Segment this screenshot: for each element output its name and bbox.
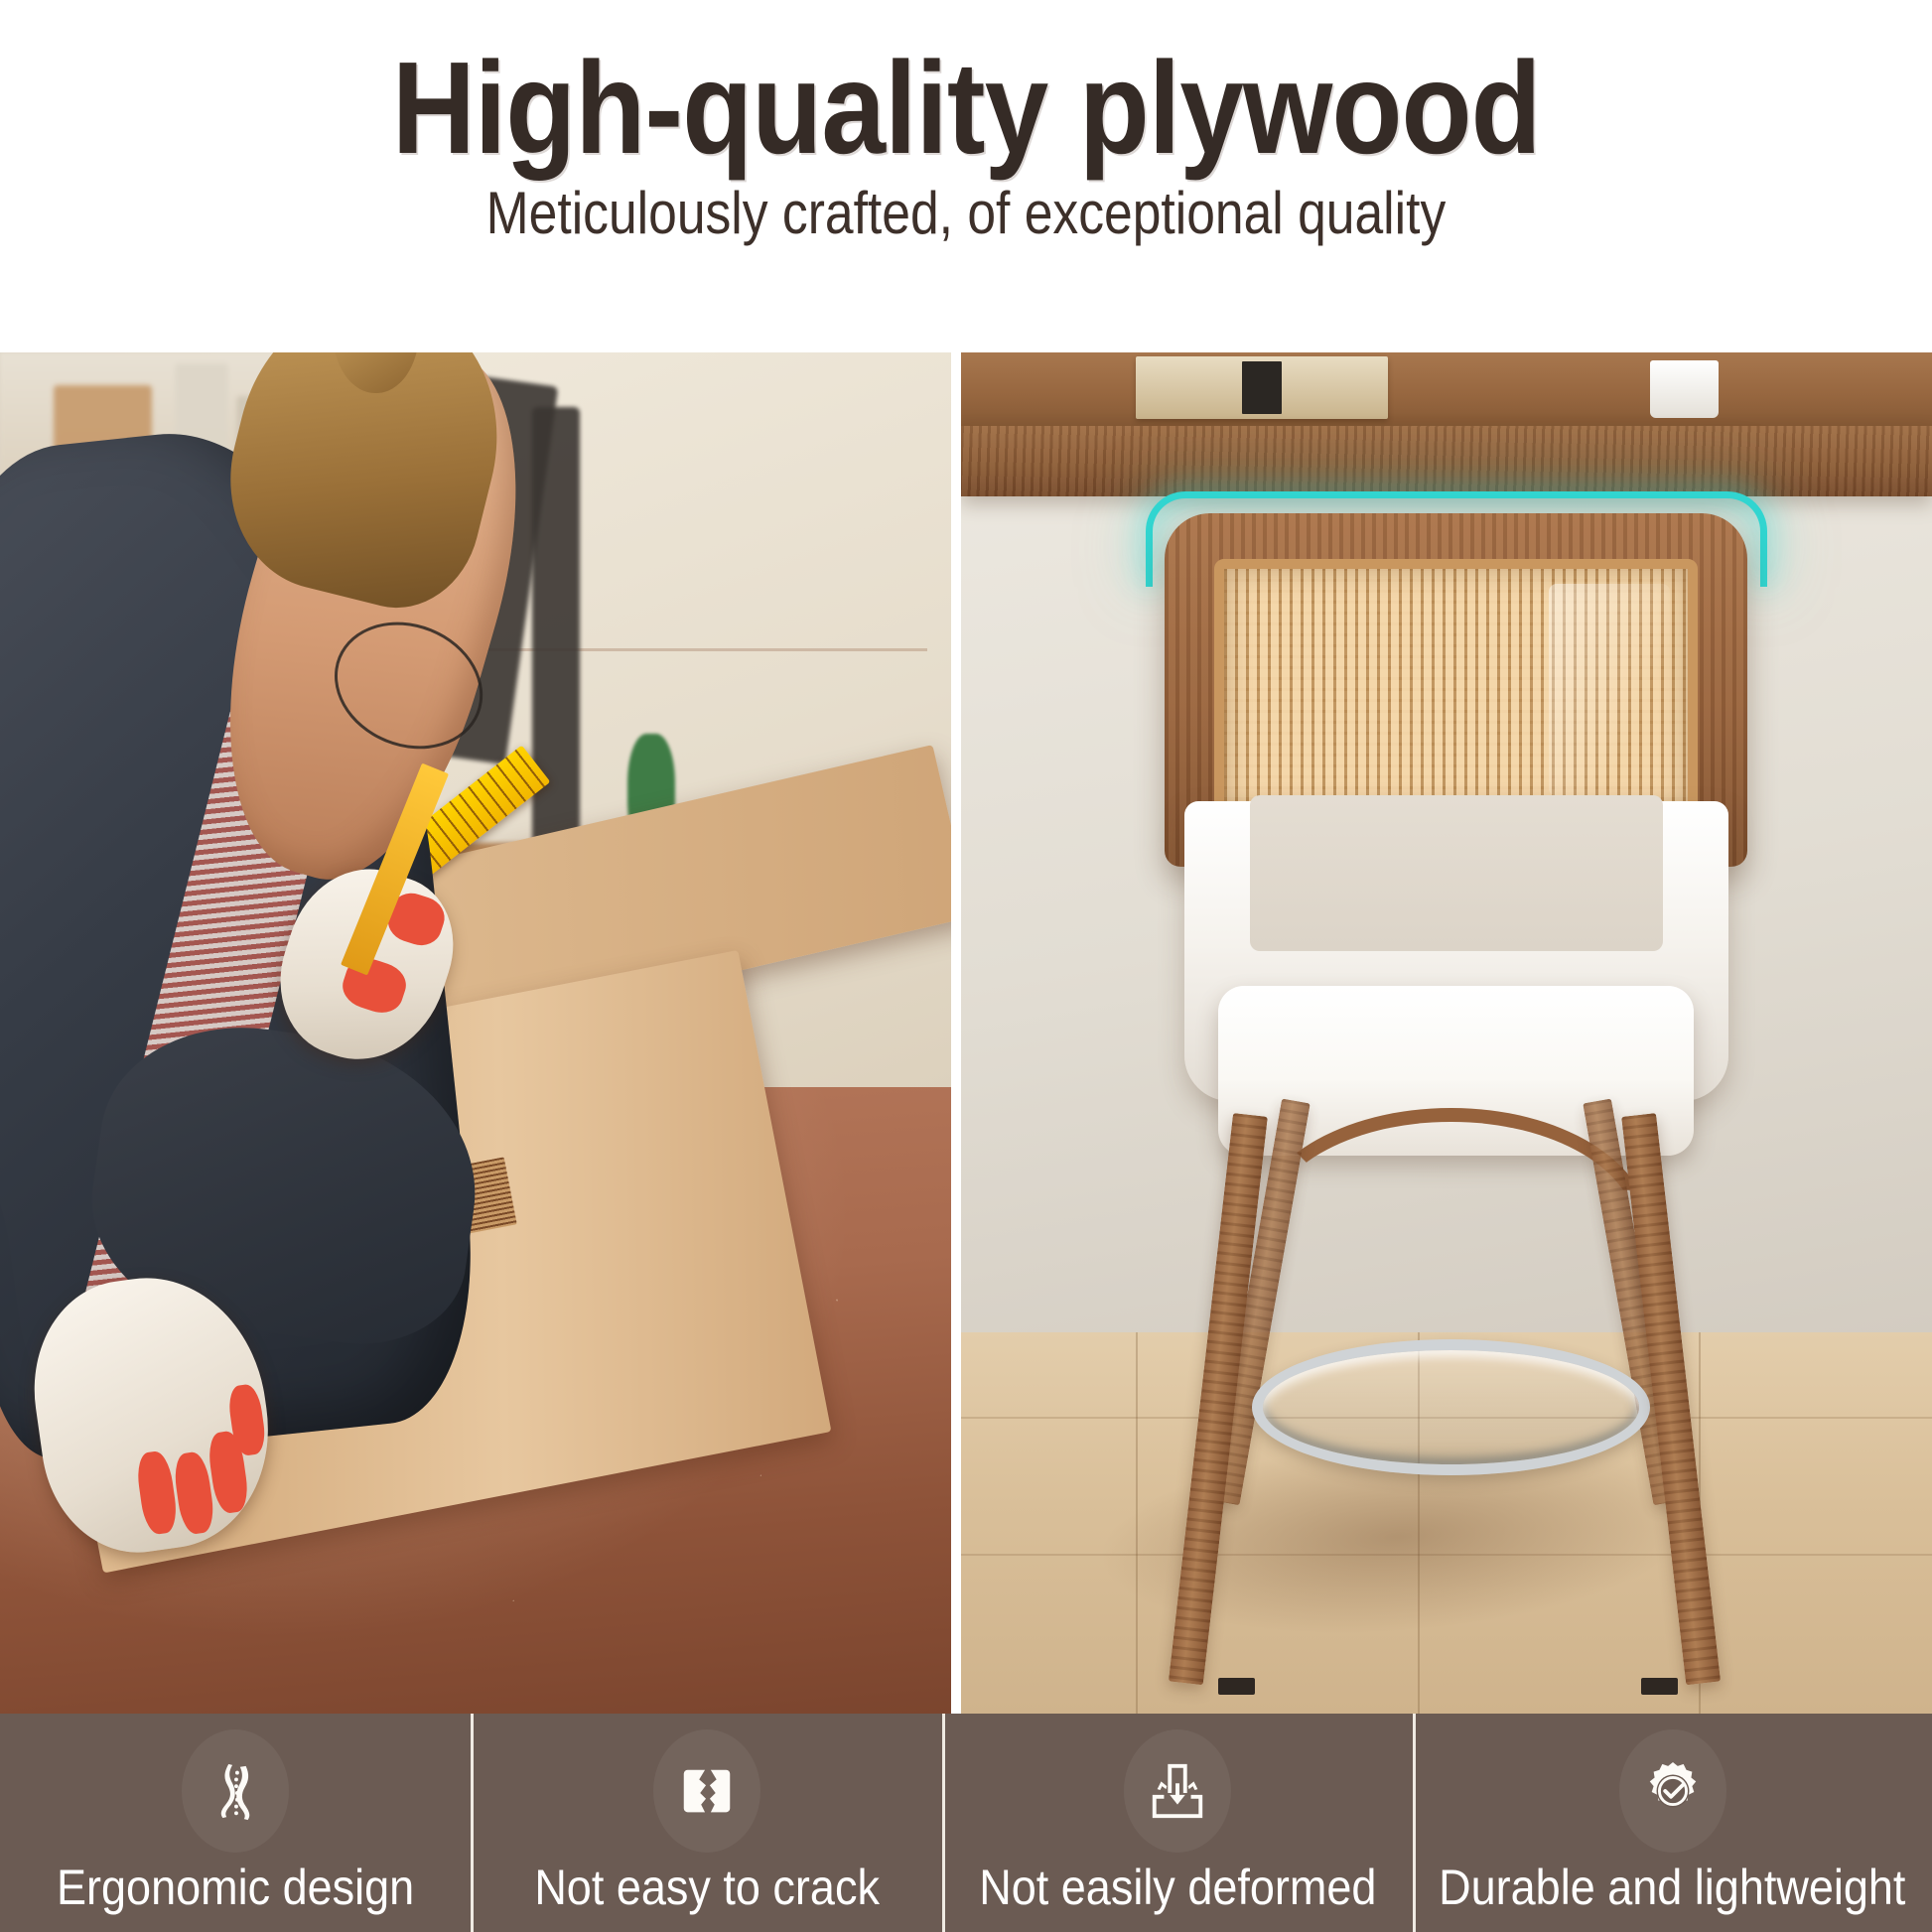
header-banner: High-quality plywood Meticulously crafte…	[0, 0, 1932, 352]
page-title: High-quality plywood	[392, 40, 1541, 176]
feature-label: Not easily deformed	[979, 1859, 1376, 1916]
feature-item-not-easily-deformed: Not easily deformed	[942, 1714, 1413, 1932]
chrome-footrest-ring	[1252, 1339, 1650, 1475]
feature-label: Ergonomic design	[57, 1859, 414, 1916]
open-book	[1136, 356, 1388, 419]
feature-item-durable-and-lightweight: Durable and lightweight	[1413, 1714, 1932, 1932]
photo-strip	[0, 352, 1932, 1714]
spine-icon	[182, 1729, 289, 1853]
desk-surface	[961, 352, 1932, 426]
feature-label: Durable and lightweight	[1440, 1859, 1906, 1916]
feature-bar: Ergonomic design Not easy to crack	[0, 1714, 1932, 1932]
foot-cap-right	[1641, 1678, 1678, 1694]
foot-cap-left	[1218, 1678, 1255, 1694]
crack-icon	[653, 1729, 760, 1853]
white-cup	[1650, 360, 1718, 418]
feature-item-not-easy-to-crack: Not easy to crack	[471, 1714, 941, 1932]
page-subtitle: Meticulously crafted, of exceptional qua…	[486, 182, 1447, 244]
product-feature-page: High-quality plywood Meticulously crafte…	[0, 0, 1932, 1932]
bar-stool-product-photo	[961, 352, 1932, 1714]
compression-icon	[1124, 1729, 1231, 1853]
rattan-cane-panel	[1214, 559, 1698, 821]
desk-edge	[961, 426, 1932, 496]
photo-divider	[951, 352, 961, 1714]
feature-item-ergonomic-design: Ergonomic design	[0, 1714, 471, 1932]
workshop-craftsman-photo	[0, 352, 951, 1714]
feature-label: Not easy to crack	[534, 1859, 880, 1916]
badge-check-icon	[1619, 1729, 1726, 1853]
